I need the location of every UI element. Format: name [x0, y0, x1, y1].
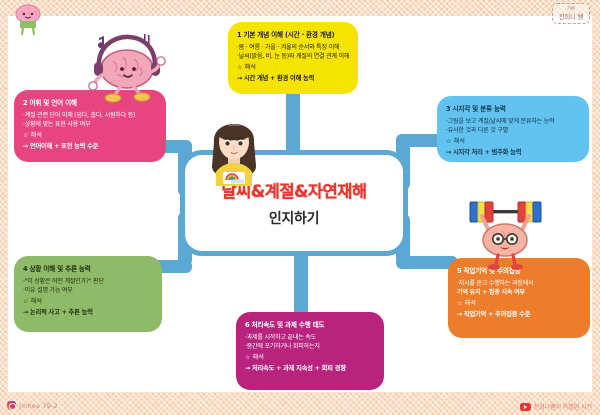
node-visual-perception-classification[interactable]: 3 시지각 및 분류 능력 ·그림을 보고 계절/날씨에 맞게 분류하는 능력 … — [437, 96, 589, 162]
girl-avatar-icon — [196, 108, 272, 186]
node-3-line-1: ·그림을 보고 계절/날씨에 맞게 분류하는 능력 — [446, 117, 581, 126]
node-1-arrow: → 시간 개념 + 환경 이해 능력 — [237, 73, 350, 82]
node-6-line-1: ·과제를 시작하고 끝내는 속도 — [245, 333, 376, 342]
center-subtitle: 인지하기 — [269, 208, 319, 228]
node-2-line-2: ·상황에 맞는 표현 사용 여부 — [23, 120, 158, 129]
node-6-line-2: ·중간에 포기하거나 회피하는지 — [245, 342, 376, 351]
youtube-watermark[interactable]: 진희나쌤의 특별한 시간 — [520, 402, 592, 411]
node-situation-reasoning[interactable]: 4 상황 이해 및 추론 능력 ·"이 상황은 어떤 계절인가?" 판단 ·이유… — [14, 256, 162, 332]
node-6-arrow: → 처리속도 + 과제 지속성 + 회피 경향 — [245, 363, 376, 372]
instagram-handle: Jinhee 79-2 — [19, 402, 58, 410]
node-1-star: ☆ 해석 — [237, 62, 350, 71]
brain-with-headphones-icon — [82, 28, 170, 104]
top-right-watermark-text: 진희니 쌤 — [559, 14, 583, 21]
node-2-line-1: ·계절 관련 단어 이해 (덥다, 춥다, 시원하다 등) — [23, 111, 158, 120]
mindmap-page: 날씨&계절&자연재해 인지하기 1 기본 개념 이해 (시간 · 환경 개념) … — [0, 0, 600, 415]
mini-brain-icon — [8, 2, 48, 36]
instagram-watermark[interactable]: Jinhee 79-2 — [7, 401, 58, 410]
node-2-arrow: → 언어이해 + 표현 능력 수준 — [23, 141, 158, 150]
node-6-heading: 6 처리속도 및 과제 수행 태도 — [245, 319, 376, 329]
node-4-star: ☆ 해석 — [23, 296, 154, 305]
node-working-memory-attention[interactable]: 5 작업기억 및 주의집중 ·지시를 듣고 수행하는 과정에서 기억 유지 + … — [448, 258, 590, 338]
node-1-line-2: ·날씨(맑음, 비, 눈 등)와 계절의 연결 관계 이해 — [237, 52, 350, 61]
top-right-watermark-small: 기록 — [559, 6, 583, 12]
node-5-arrow: → 작업기억 + 주의집중 수준 — [457, 309, 582, 318]
node-1-heading: 1 기본 개념 이해 (시간 · 환경 개념) — [237, 29, 350, 39]
node-2-star: ☆ 해석 — [23, 130, 158, 139]
brain-lifting-books-icon — [462, 198, 548, 270]
node-4-heading: 4 상황 이해 및 추론 능력 — [23, 263, 154, 273]
node-4-arrow: → 논리적 사고 + 추론 능력 — [23, 307, 154, 316]
youtube-channel-name: 진희나쌤의 특별한 시간 — [534, 402, 592, 411]
node-5-line-1: ·지시를 듣고 수행하는 과정에서 — [457, 279, 582, 288]
node-3-heading: 3 시지각 및 분류 능력 — [446, 103, 581, 113]
node-6-star: ☆ 해석 — [245, 352, 376, 361]
node-3-line-2: ·유사한 것과 다른 것 구별 — [446, 126, 581, 135]
node-5-line-2: 기억 유지 + 집중 지속 여부 — [457, 288, 582, 297]
node-processing-speed-task-attitude[interactable]: 6 처리속도 및 과제 수행 태도 ·과제를 시작하고 끝내는 속도 ·중간에 … — [236, 312, 384, 390]
node-1-line-1: ·봄 · 여름 · 가을 · 겨울의 순서와 특징 이해 — [237, 43, 350, 52]
connector-to-node-1 — [286, 86, 300, 160]
youtube-icon — [520, 403, 531, 411]
node-basic-concept[interactable]: 1 기본 개념 이해 (시간 · 환경 개념) ·봄 · 여름 · 가을 · 겨… — [228, 22, 358, 94]
node-4-line-1: ·"이 상황은 어떤 계절인가?" 판단 — [23, 277, 154, 286]
node-3-star: ☆ 해석 — [446, 136, 581, 145]
node-5-star: ☆ 해석 — [457, 298, 582, 307]
top-right-watermark: 기록 진희니 쌤 — [552, 3, 590, 24]
node-4-line-2: ·이유 설명 가능 여부 — [23, 286, 154, 295]
node-3-arrow: → 시지각 처리 + 범주화 능력 — [446, 147, 581, 156]
connector-to-node-6 — [294, 246, 308, 320]
instagram-icon — [7, 401, 16, 410]
